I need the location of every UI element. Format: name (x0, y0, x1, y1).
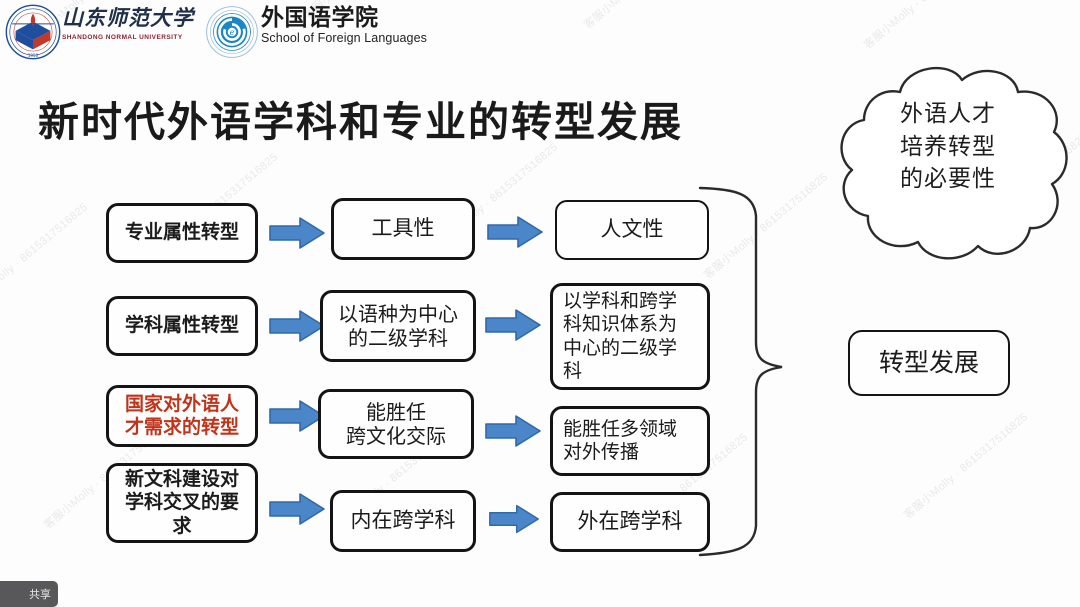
school-wordmark: 外国语学院 School of Foreign Languages (261, 6, 427, 45)
to-box-1[interactable]: 人文性 (555, 200, 709, 260)
from-label-1: 工具性 (366, 216, 441, 242)
svg-text:e: e (230, 27, 235, 37)
shandong-normal-university-logo-icon: 1950 (4, 3, 62, 61)
watermark-text: 客服小Molly · 8615317516825 (0, 199, 91, 313)
to-box-2[interactable]: 以学科和跨学 科知识体系为 中心的二级学 科 (550, 283, 710, 390)
flow-arrow-2a-icon (268, 309, 326, 343)
slide-title: 新时代外语学科和专业的转型发展 (38, 88, 683, 148)
to-label-1: 人文性 (595, 217, 670, 243)
watermark-text: 客服小Molly · 8615317516825 (580, 0, 711, 32)
to-label-3: 能胜任多领域 对外传播 (553, 418, 707, 464)
university-name-en: SHANDONG NORMAL UNIVERSITY (62, 34, 202, 41)
from-box-4[interactable]: 内在跨学科 (330, 490, 476, 552)
from-box-3[interactable]: 能胜任 跨文化交际 (318, 389, 474, 459)
driver-label-1: 专业属性转型 (119, 221, 245, 244)
driver-box-1[interactable]: 专业属性转型 (106, 203, 258, 263)
cloud-callout-text: 外语人才 培养转型 的必要性 (852, 98, 1044, 196)
to-box-4[interactable]: 外在跨学科 (550, 492, 710, 552)
to-box-3[interactable]: 能胜任多领域 对外传播 (550, 406, 710, 476)
to-label-4: 外在跨学科 (572, 509, 689, 535)
flow-arrow-1a-icon (268, 216, 326, 250)
share-label: 共享 (29, 586, 51, 602)
from-box-2[interactable]: 以语种为中心 的二级学科 (320, 290, 476, 362)
from-label-3: 能胜任 跨文化交际 (340, 400, 452, 449)
to-label-2: 以学科和跨学 科知识体系为 中心的二级学 科 (553, 290, 707, 383)
university-name-cn: 山东师范大学 (62, 8, 202, 29)
school-of-foreign-languages-logo-icon: e (205, 5, 259, 59)
share-button[interactable]: 共享 (0, 581, 58, 607)
driver-label-3: 国家对外语人 才需求的转型 (119, 393, 245, 439)
university-wordmark: 山东师范大学 SHANDONG NORMAL UNIVERSITY (62, 8, 202, 41)
watermark-text: 客服小Molly · 8615317516825 (860, 0, 991, 52)
watermark-text: 客服小Molly · 8615317516825 (900, 409, 1031, 523)
flow-arrow-4b-icon (488, 503, 540, 535)
from-box-1[interactable]: 工具性 (331, 198, 475, 260)
outcome-label: 转型发展 (873, 348, 985, 379)
flow-arrow-1b-icon (486, 215, 544, 249)
flow-arrow-2b-icon (484, 308, 542, 342)
school-name-cn: 外国语学院 (261, 6, 427, 30)
from-label-4: 内在跨学科 (345, 508, 462, 534)
slide-header-logos: 1950 山东师范大学 SHANDONG NORMAL UNIVERSITY e… (0, 0, 470, 66)
presentation-slide: 客服小Molly · 8615317516825 客服小Molly · 8615… (0, 0, 1080, 607)
outcome-box[interactable]: 转型发展 (848, 330, 1010, 396)
driver-label-2: 学科属性转型 (119, 314, 245, 337)
driver-box-3[interactable]: 国家对外语人 才需求的转型 (106, 385, 258, 447)
flow-arrow-4a-icon (268, 492, 326, 526)
driver-box-4[interactable]: 新文科建设对 学科交叉的要 求 (106, 463, 258, 543)
from-label-2: 以语种为中心 的二级学科 (332, 302, 464, 351)
school-name-en: School of Foreign Languages (261, 31, 427, 45)
flow-arrow-3b-icon (484, 414, 542, 448)
driver-label-4: 新文科建设对 学科交叉的要 求 (119, 468, 245, 538)
driver-box-2[interactable]: 学科属性转型 (106, 296, 258, 356)
svg-text:1950: 1950 (28, 53, 39, 58)
